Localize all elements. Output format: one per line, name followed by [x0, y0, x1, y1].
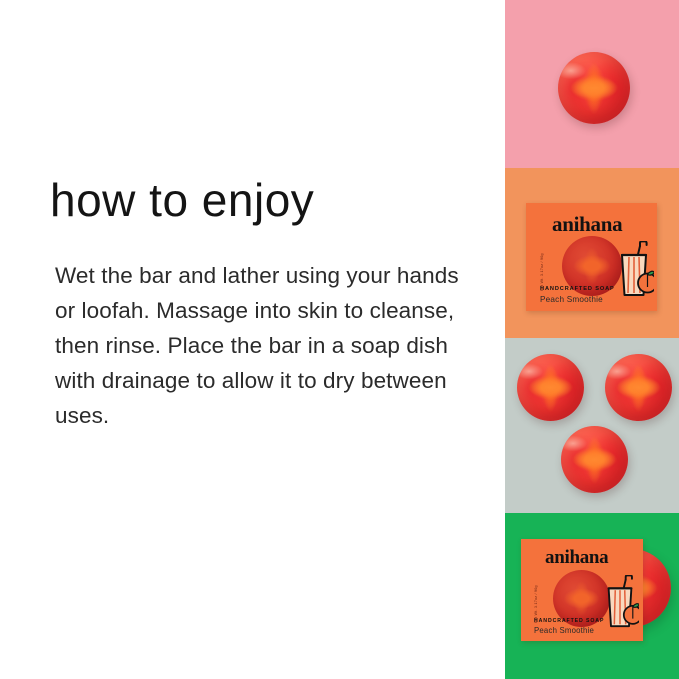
green-panel: anihana Net Wt. 3.17oz / 90g HANDCRAFTED… — [505, 513, 679, 679]
soap-bar — [558, 52, 630, 124]
soap-bar — [517, 354, 584, 421]
brand-logo: anihana — [552, 212, 622, 237]
product-detail-image: how to enjoy Wet the bar and lather usin… — [0, 0, 679, 679]
text-column: how to enjoy Wet the bar and lather usin… — [0, 0, 505, 679]
orange-panel: anihana Net Wt. 3.17oz / 90g HANDCRAFTED… — [505, 168, 679, 338]
product-type-label: HANDCRAFTED SOAP — [534, 618, 604, 624]
smoothie-glass-icon — [614, 241, 654, 299]
smoothie-glass-icon — [601, 575, 639, 630]
instructions-paragraph: Wet the bar and lather using your hands … — [55, 258, 467, 433]
soap-bar — [561, 426, 628, 493]
variant-label: Peach Smoothie — [534, 626, 594, 635]
product-box: anihana Net Wt. 3.17oz / 90g HANDCRAFTED… — [526, 203, 657, 311]
product-image-strip: anihana Net Wt. 3.17oz / 90g HANDCRAFTED… — [505, 0, 679, 679]
gray-panel — [505, 338, 679, 513]
page-title: how to enjoy — [50, 174, 314, 226]
product-box: anihana Net Wt. 3.17oz / 90g HANDCRAFTED… — [521, 539, 643, 641]
soap-bar — [605, 354, 672, 421]
product-type-label: HANDCRAFTED SOAP — [540, 286, 615, 292]
variant-label: Peach Smoothie — [540, 295, 603, 304]
pink-panel — [505, 0, 679, 168]
brand-logo: anihana — [545, 547, 608, 569]
